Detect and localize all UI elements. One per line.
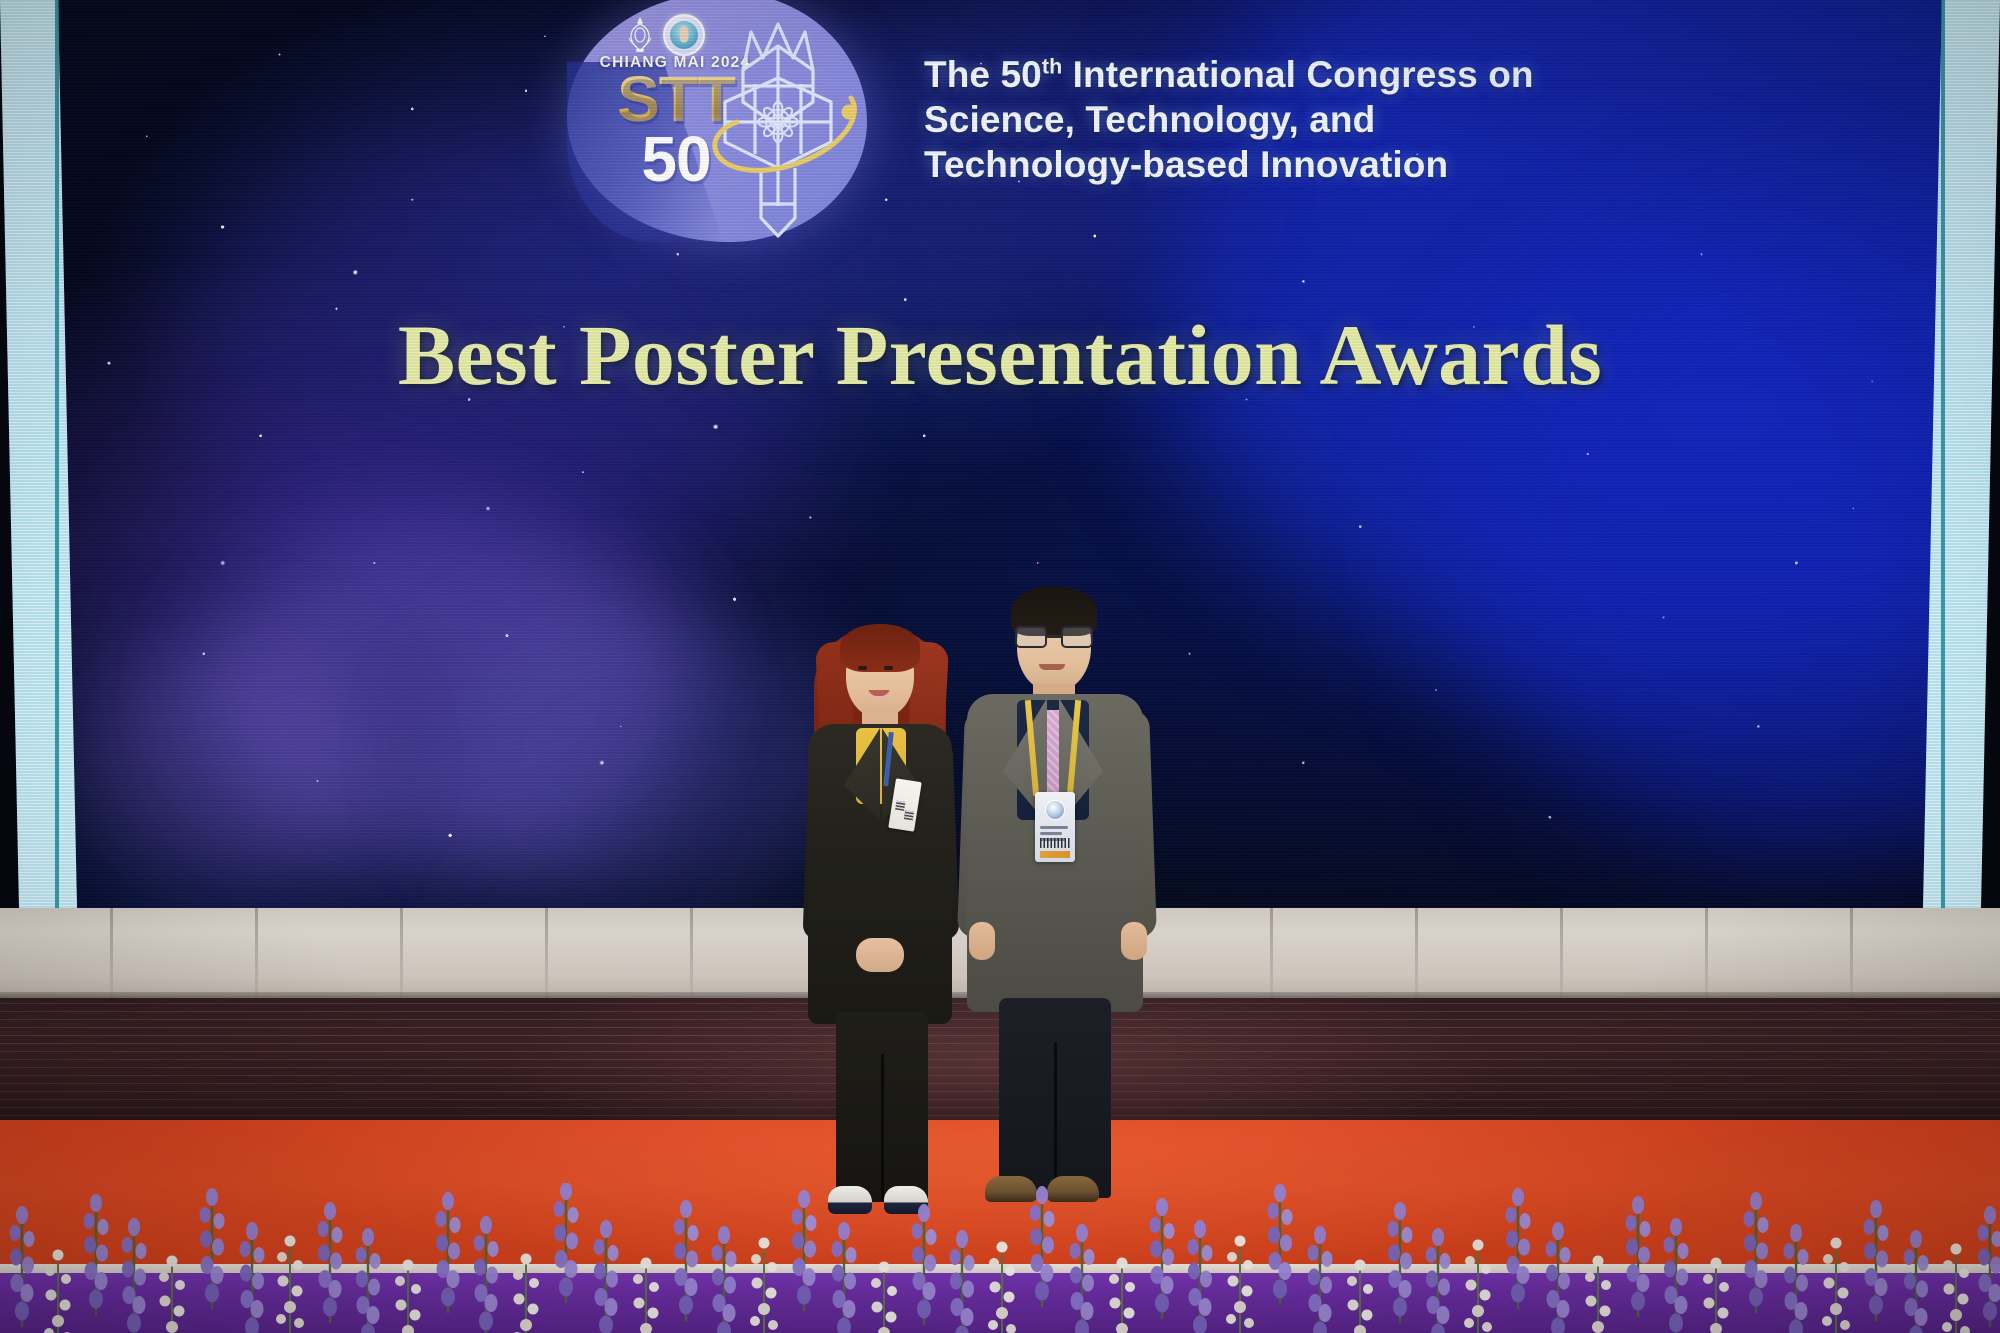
trousers (836, 1012, 928, 1202)
badge-seal-icon (1045, 800, 1065, 820)
congress-logo: CHIANG MAI 2024 STT 50 (567, 0, 867, 242)
award-headline: Best Poster Presentation Awards (52, 312, 1948, 398)
trousers (999, 998, 1111, 1198)
dress-shoe-left (985, 1176, 1037, 1202)
lens-right (1061, 626, 1093, 648)
stage-scene: CHIANG MAI 2024 STT 50 (0, 0, 2000, 1333)
congress-title-line-1: The 50th International Congress on (924, 52, 1684, 97)
sneaker-left (828, 1186, 872, 1214)
seal-figure (680, 26, 689, 43)
badge-color-strip (1040, 851, 1070, 858)
clasped-hands (856, 938, 904, 972)
congress-title: The 50th International Congress on Scien… (924, 52, 1684, 187)
sneaker-right (884, 1186, 928, 1214)
glasses-bridge (1047, 635, 1061, 638)
mouth (1039, 664, 1065, 670)
thai-royal-emblem-icon (625, 16, 655, 54)
chiang-mai-lantern-icon (693, 6, 863, 242)
violet-cloud (204, 527, 697, 872)
congress-title-ordinal: th (1042, 55, 1062, 79)
violet-cloud (431, 599, 848, 908)
eye-right (884, 666, 893, 670)
congress-title-line-2: Science, Technology, and (924, 97, 1684, 142)
awardee-woman (800, 620, 960, 1180)
badge-barcode-icon (1040, 838, 1070, 848)
hand-left (969, 922, 995, 960)
awardee-man (955, 578, 1155, 1178)
glasses-icon (1013, 626, 1095, 648)
conference-badge (1035, 792, 1075, 862)
nebula-bloom (90, 472, 659, 890)
congress-title-prefix: The 50 (924, 54, 1042, 95)
dress-shoe-right (1047, 1176, 1099, 1202)
hair-top (840, 624, 920, 672)
left-wall-edge (55, 0, 59, 924)
right-wall-edge (1941, 0, 1945, 924)
qr-code-icon (904, 810, 914, 820)
lens-left (1015, 626, 1047, 648)
qr-code-icon (895, 801, 905, 811)
congress-title-line-3: Technology-based Innovation (924, 142, 1684, 187)
eye-left (858, 666, 867, 670)
congress-title-suffix: International Congress on (1062, 54, 1533, 95)
violet-cloud (71, 636, 374, 890)
hand-right (1121, 922, 1147, 960)
